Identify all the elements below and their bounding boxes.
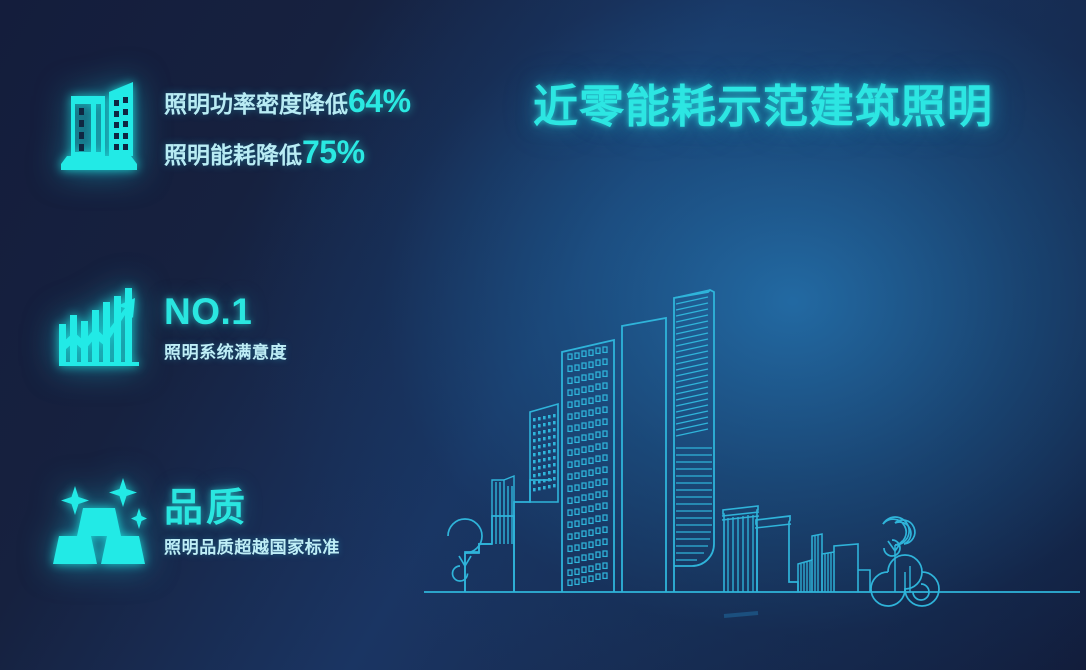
striped-tall-tower bbox=[674, 290, 714, 592]
poster-canvas: 近零能耗示范建筑照明 bbox=[0, 0, 1086, 670]
gold-bars-icon bbox=[40, 478, 158, 566]
feature-headline: 品质 bbox=[164, 489, 340, 528]
fin-band bbox=[724, 613, 758, 616]
striped-midrise bbox=[492, 476, 514, 544]
stat-label: 照明能耗降低 bbox=[164, 142, 302, 168]
feature-text-quality: 品质 照明品质超越国家标准 bbox=[158, 489, 340, 556]
feature-subtitle: 照明系统满意度 bbox=[164, 344, 287, 361]
skyline-svg bbox=[418, 214, 1086, 606]
dotted-tower-main bbox=[562, 340, 614, 592]
building-icon bbox=[40, 78, 158, 174]
stat-line-power-density: 照明功率密度降低64% bbox=[164, 85, 411, 117]
city-skyline-illustration bbox=[418, 214, 1086, 606]
feature-text-energy: 照明功率密度降低64% 照明能耗降低75% bbox=[158, 85, 411, 168]
twin-fin-towers bbox=[722, 506, 798, 614]
stat-line-energy-use: 照明能耗降低75% bbox=[164, 136, 411, 168]
feature-row-satisfaction: NO.1 照明系统满意度 bbox=[40, 288, 287, 366]
bar-chart-growth-icon bbox=[40, 288, 158, 366]
dotted-slab-left bbox=[530, 404, 558, 502]
feature-text-satisfaction: NO.1 照明系统满意度 bbox=[158, 293, 287, 361]
stat-label: 照明功率密度降低 bbox=[164, 91, 348, 117]
stat-value: 64% bbox=[348, 83, 411, 119]
plain-slab-tower bbox=[622, 318, 666, 592]
left-tree bbox=[448, 519, 492, 592]
page-title: 近零能耗示范建筑照明 bbox=[533, 83, 993, 131]
feature-headline: NO.1 bbox=[164, 293, 287, 330]
tower-stripes bbox=[676, 297, 712, 560]
feature-subtitle: 照明品质超越国家标准 bbox=[164, 539, 340, 556]
feature-row-quality: 品质 照明品质超越国家标准 bbox=[40, 478, 340, 566]
left-fins bbox=[728, 515, 753, 592]
right-fin-block bbox=[798, 534, 822, 592]
skyline-outlines bbox=[424, 290, 1080, 616]
stat-value: 75% bbox=[302, 134, 365, 170]
feature-row-energy: 照明功率密度降低64% 照明能耗降低75% bbox=[40, 78, 411, 174]
window-grid-main bbox=[568, 347, 607, 585]
right-low-blocks bbox=[822, 544, 870, 592]
